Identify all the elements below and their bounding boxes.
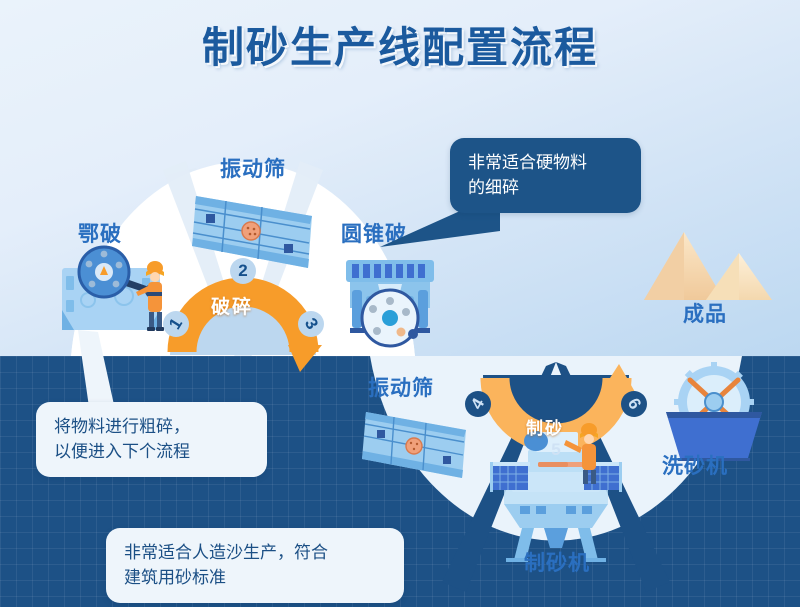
callout-cone-crusher-note: 非常适合硬物料 的细碎 [450, 138, 641, 213]
step-number-2: 2 [231, 259, 255, 283]
page-title: 制砂生产线配置流程 [0, 14, 800, 75]
artwork-layer [0, 0, 800, 607]
callout-line: 建筑用砂标准 [124, 566, 386, 591]
product-label: 成品 [683, 298, 727, 328]
callout-line: 将物料进行粗碎， [54, 415, 249, 440]
step-label-vibrating-screen-bottom: 振动筛 [368, 372, 434, 402]
callout-line: 的细碎 [468, 176, 623, 201]
callout-sand-maker-note: 非常适合人造沙生产，符合 建筑用砂标准 [106, 528, 404, 603]
step-label-vibrating-screen-top: 振动筛 [220, 153, 286, 183]
callout-line: 非常适合硬物料 [468, 151, 623, 176]
callout-line: 以便进入下个流程 [54, 440, 249, 465]
sand-pile-icon [644, 232, 772, 300]
stage-label-crushing: 破碎 [211, 292, 253, 319]
step-number-5: 5 [544, 438, 568, 462]
step-label-sand-washer: 洗砂机 [662, 450, 728, 480]
step-label-sand-maker: 制砂机 [524, 547, 590, 577]
stage-label-sand-making: 制砂 [526, 414, 564, 439]
step-label-jaw-crusher: 鄂破 [78, 218, 122, 248]
infographic-canvas: 制砂生产线配置流程 [0, 0, 800, 607]
callout-line: 非常适合人造沙生产，符合 [124, 541, 386, 566]
callout-jaw-crusher-note: 将物料进行粗碎， 以便进入下个流程 [36, 402, 267, 477]
